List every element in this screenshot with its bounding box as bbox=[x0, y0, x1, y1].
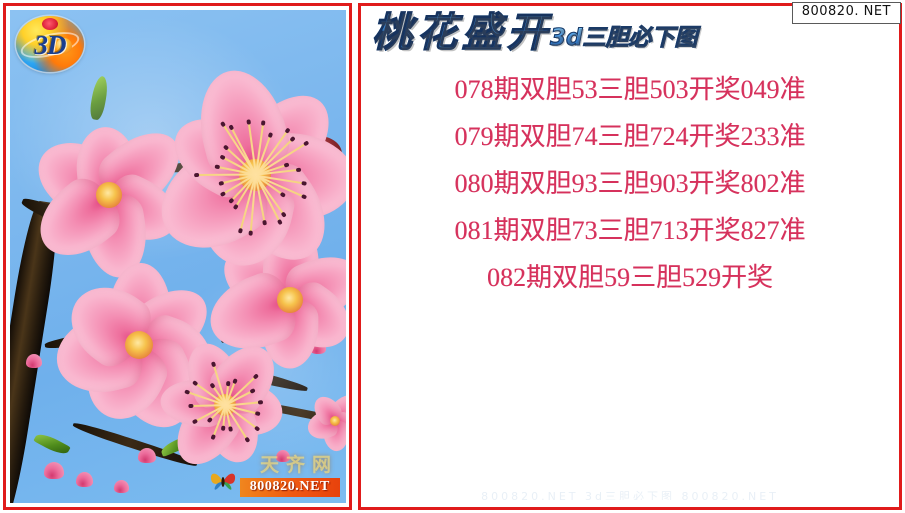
bud bbox=[114, 480, 129, 493]
blossom-small bbox=[306, 392, 346, 450]
prediction-panel-inner: 桃花盛开 3d三胆必下图 078期双胆53三胆503开奖049准 079期双胆7… bbox=[364, 9, 896, 504]
photo-watermark-url: 800820.NET bbox=[240, 478, 340, 497]
bud bbox=[26, 354, 42, 368]
butterfly-icon bbox=[208, 469, 238, 495]
title-main-text: 桃花盛开 bbox=[372, 13, 552, 53]
bud bbox=[76, 472, 93, 487]
prediction-row: 081期双胆73三胆713开奖827准 bbox=[364, 218, 896, 244]
flower-center bbox=[96, 182, 122, 208]
photo-panel: 3D 天齐网 800820.NET bbox=[3, 3, 352, 510]
logo-rose bbox=[42, 18, 58, 30]
bud bbox=[138, 448, 156, 463]
prediction-row: 078期双胆53三胆503开奖049准 bbox=[364, 77, 896, 103]
prediction-row: 082期双胆59三胆529开奖 bbox=[364, 265, 896, 291]
faint-footer-watermark: 800820.NET 3d三胆必下图 800820.NET bbox=[364, 488, 896, 500]
flower-center bbox=[277, 287, 303, 313]
page-root: 3D 天齐网 800820.NET 桃花盛开 3d三胆必下图 078期双胆53三… bbox=[0, 0, 905, 513]
panel-title: 桃花盛开 3d三胆必下图 bbox=[372, 13, 697, 53]
prediction-panel: 桃花盛开 3d三胆必下图 078期双胆53三胆503开奖049准 079期双胆7… bbox=[358, 3, 902, 510]
peach-blossom-photo: 3D 天齐网 800820.NET bbox=[10, 10, 346, 503]
flower-center bbox=[330, 416, 340, 426]
bud bbox=[44, 462, 64, 479]
logo-label: 3D bbox=[16, 32, 84, 59]
photo-watermark-cn: 天齐网 bbox=[260, 450, 338, 477]
prediction-row: 080期双胆93三胆903开奖802准 bbox=[364, 171, 896, 197]
prediction-list: 078期双胆53三胆503开奖049准 079期双胆74三胆724开奖233准 … bbox=[364, 77, 896, 312]
3d-logo-icon: 3D bbox=[16, 16, 84, 72]
blossom-primary bbox=[160, 80, 346, 270]
site-badge: 800820. NET bbox=[792, 2, 901, 24]
title-sub-text: 3d三胆必下图 bbox=[550, 27, 697, 53]
prediction-row: 079期双胆74三胆724开奖233准 bbox=[364, 124, 896, 150]
